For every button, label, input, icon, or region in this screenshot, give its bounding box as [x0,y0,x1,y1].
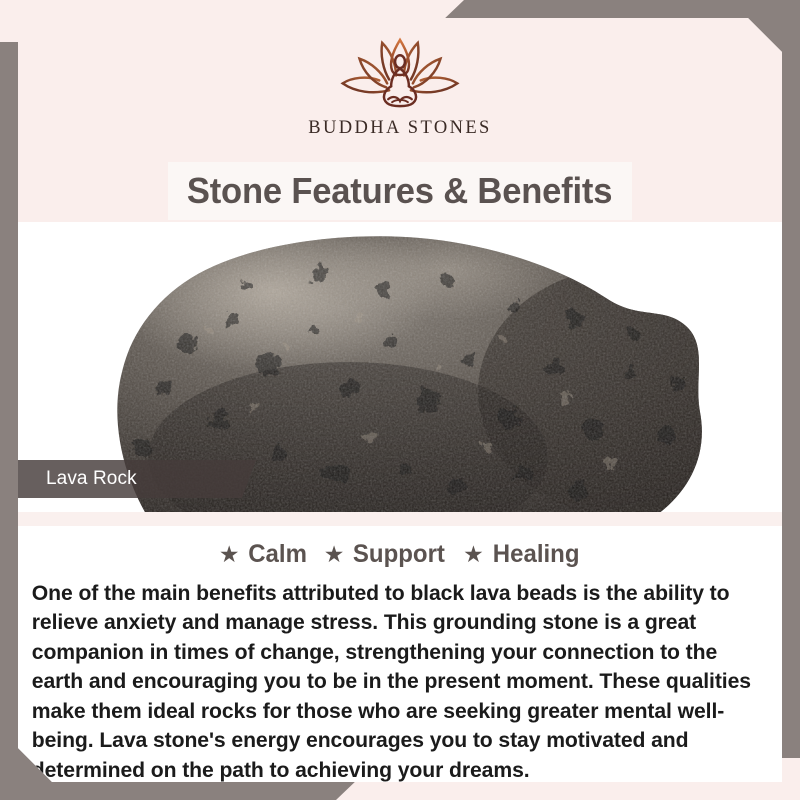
brand-header: BUDDHA STONES [18,18,782,170]
star-icon: ★ [324,543,345,566]
benefit-label: Support [353,540,445,569]
poster-root: BUDDHA STONES Stone Features & Benefits [0,0,800,800]
star-icon: ★ [463,543,484,566]
hero-caption-label: Lava Rock [46,468,137,490]
hero-separator [18,512,782,526]
page-title: Stone Features & Benefits [187,170,612,212]
title-band: Stone Features & Benefits [168,162,632,220]
benefit-label: Healing [493,540,580,569]
benefit-item-support: ★ Support [324,540,447,569]
benefits-row: ★ Calm ★ Support ★ Healing [18,526,782,575]
benefit-label: Calm [248,540,307,569]
benefit-item-healing: ★ Healing [463,540,581,569]
content-card: BUDDHA STONES Stone Features & Benefits [18,18,782,782]
brand-name: BUDDHA STONES [308,118,492,139]
lotus-meditation-figure-icon [325,32,475,116]
hero-caption-banner: Lava Rock [18,460,256,498]
description-paragraph: One of the main benefits attributed to b… [18,575,771,782]
hero-image-section: Lava Rock [18,222,782,512]
benefit-item-calm: ★ Calm [219,540,308,569]
star-icon: ★ [219,543,240,566]
title-band-wrap: Stone Features & Benefits [18,170,782,222]
